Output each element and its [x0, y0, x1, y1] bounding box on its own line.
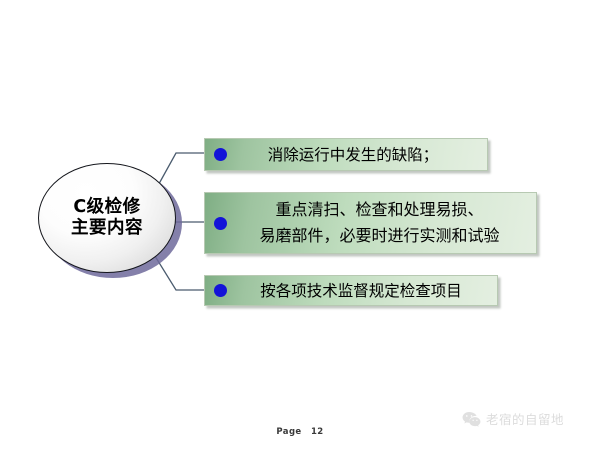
watermark: 老宿的自留地 [462, 409, 564, 428]
page-number: 12 [311, 427, 324, 437]
branch-box-2[interactable]: 重点清扫、检查和处理易损、 易磨部件，必要时进行实测和试验 [204, 192, 537, 254]
bullet-icon-3 [214, 284, 227, 297]
center-circle-node[interactable]: C级检修 主要内容 [38, 163, 186, 281]
center-title-line-2: 主要内容 [71, 218, 143, 239]
center-title-line-1: C级检修 [73, 197, 140, 218]
page-label: Page [276, 427, 301, 437]
branch-box-1[interactable]: 消除运行中发生的缺陷； [204, 138, 488, 171]
branch-text-2: 重点清扫、检查和处理易损、 易磨部件，必要时进行实测和试验 [233, 197, 536, 249]
watermark-text: 老宿的自留地 [486, 409, 564, 428]
bullet-icon-1 [214, 148, 227, 161]
slide-canvas: C级检修 主要内容 消除运行中发生的缺陷； 重点清扫、检查和处理易损、 易磨部件… [0, 0, 600, 450]
branch-text-3: 按各项技术监督规定检查项目 [233, 279, 497, 303]
circle-face: C级检修 主要内容 [38, 163, 176, 273]
branch-text-1: 消除运行中发生的缺陷； [233, 143, 487, 167]
branch-box-3[interactable]: 按各项技术监督规定检查项目 [204, 275, 498, 306]
page-footer: Page 12 [0, 427, 600, 437]
bullet-icon-2 [214, 217, 227, 230]
wechat-logo-icon [462, 411, 481, 427]
